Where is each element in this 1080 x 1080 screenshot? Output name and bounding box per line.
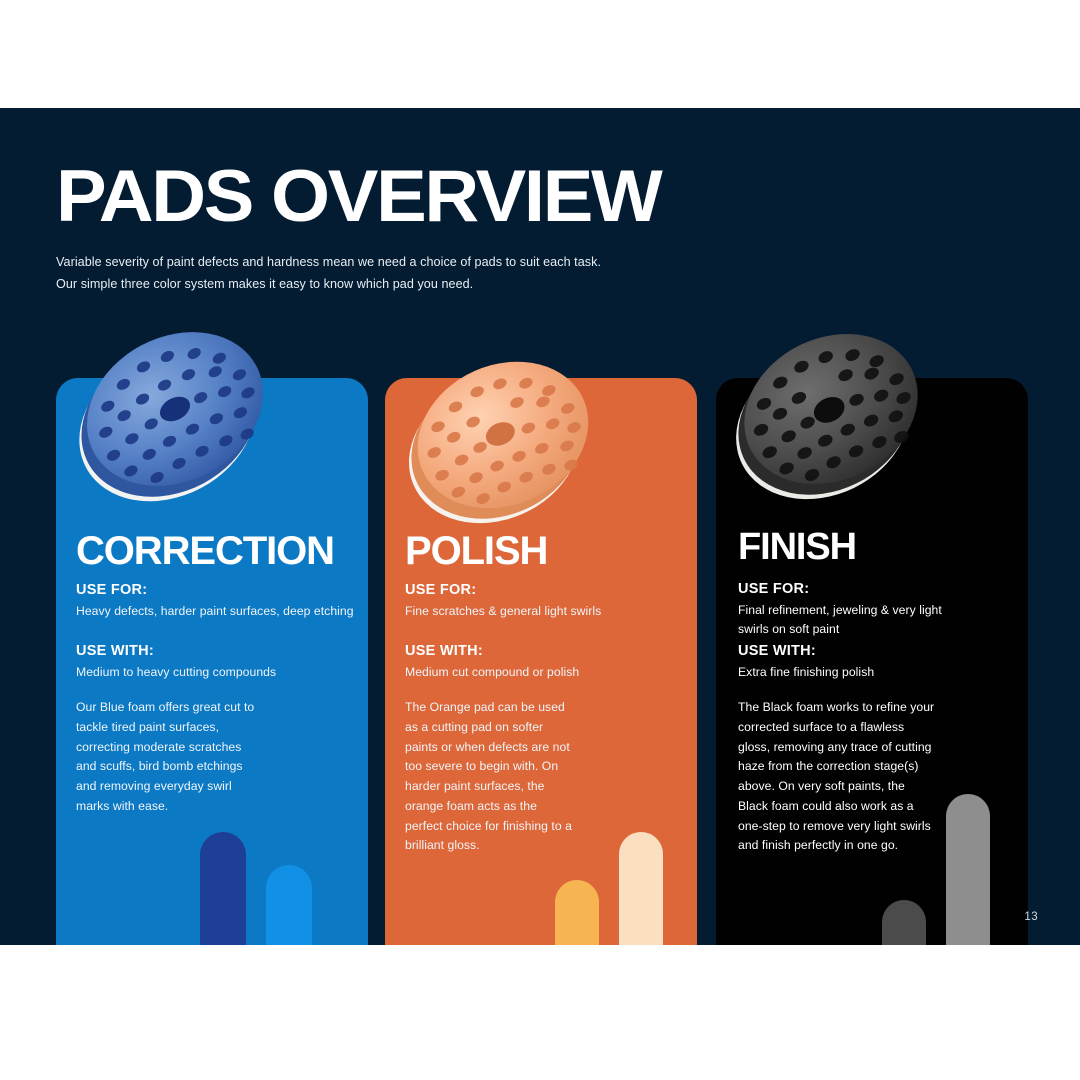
bar-finish: FINISH [619, 832, 663, 945]
card-title: FINISH [738, 528, 856, 566]
use-for-heading: USE FOR: [76, 582, 147, 598]
use-with-text: Extra fine finishing polish [738, 663, 874, 682]
use-with-heading: USE WITH: [405, 643, 483, 659]
use-for-heading: USE FOR: [738, 581, 809, 597]
bar-cut: CUT [882, 900, 926, 945]
use-for-heading: USE FOR: [405, 582, 476, 598]
cut-finish-bar-chart: CUT FINISH [870, 692, 1000, 945]
bar-finish: FINISH [946, 794, 990, 945]
use-for-text: Final refinement, jeweling & very light … [738, 601, 958, 638]
use-with-text: Medium cut compound or polish [405, 663, 579, 682]
bar-finish: FINISH [266, 865, 312, 945]
use-with-heading: USE WITH: [76, 643, 154, 659]
bar-cut: CUT [200, 832, 246, 945]
card-title: CORRECTION [76, 531, 334, 571]
use-with-text: Medium to heavy cutting compounds [76, 663, 276, 682]
card-title: POLISH [405, 531, 547, 571]
subtitle-line-1: Variable severity of paint defects and h… [56, 252, 601, 274]
page-title: PADS OVERVIEW [56, 160, 660, 233]
pad-card-polish[interactable]: POLISH USE FOR: Fine scratches & general… [385, 378, 697, 945]
page-number: 13 [1024, 911, 1038, 923]
bar-cut: CUT [555, 880, 599, 945]
use-with-heading: USE WITH: [738, 643, 816, 659]
slide-subtitle: Variable severity of paint defects and h… [56, 252, 601, 295]
cut-finish-bar-chart: CUT FINISH [200, 692, 330, 945]
cut-finish-bar-chart: CUT FINISH [541, 692, 671, 945]
use-for-text: Fine scratches & general light swirls [405, 602, 601, 621]
use-for-text: Heavy defects, harder paint surfaces, de… [76, 602, 354, 621]
pad-card-finish[interactable]: FINISH USE FOR: Final refinement, jeweli… [716, 378, 1028, 945]
slide-canvas: PADS OVERVIEW Variable severity of paint… [0, 108, 1080, 945]
subtitle-line-2: Our simple three color system makes it e… [56, 274, 601, 296]
pad-card-correction[interactable]: CORRECTION USE FOR: Heavy defects, harde… [56, 378, 368, 945]
